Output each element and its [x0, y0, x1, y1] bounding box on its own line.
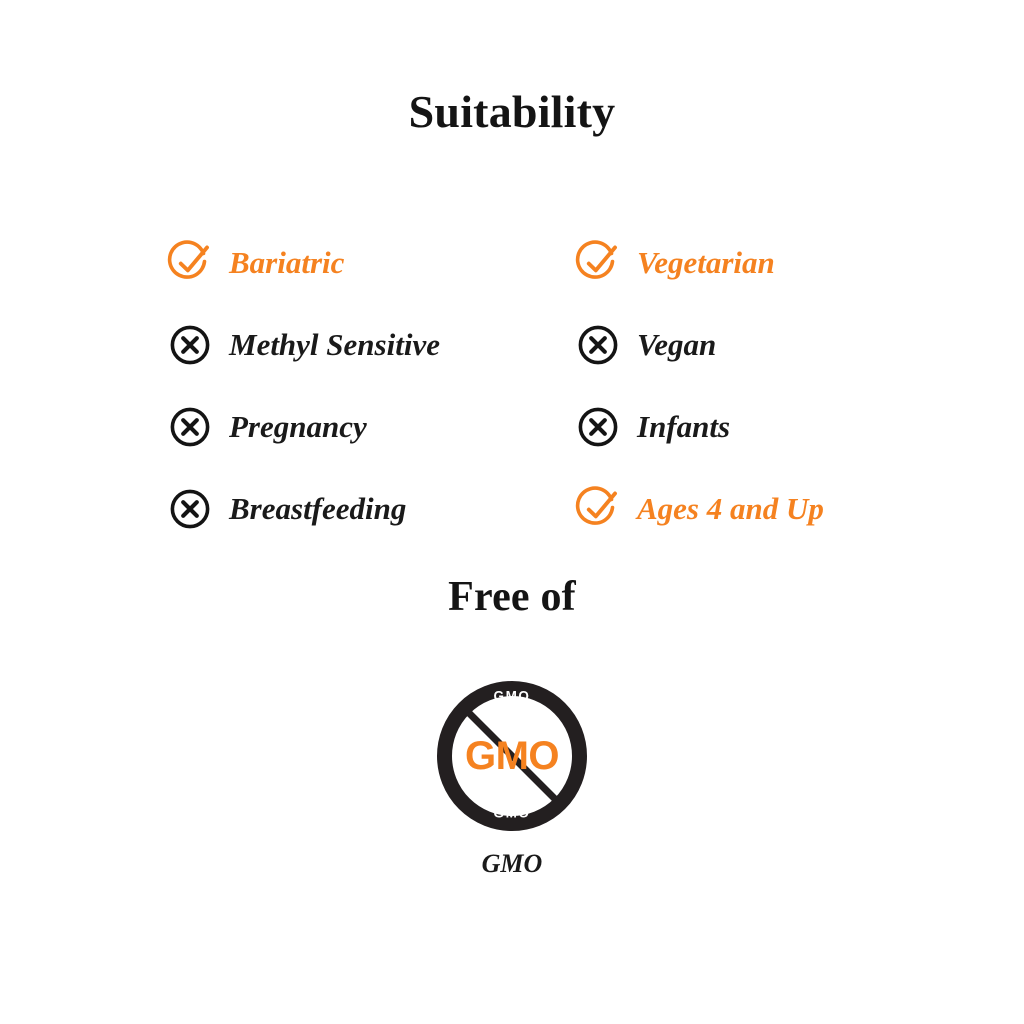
suitability-item-bariatric: Bariatric	[168, 222, 576, 304]
suitability-item-label: Bariatric	[229, 246, 344, 280]
suitability-item-label: Vegan	[637, 328, 716, 362]
x-circle-icon	[168, 323, 212, 367]
suitability-item-label: Breastfeeding	[229, 492, 406, 526]
free-of-badge-caption: GMO	[482, 849, 543, 879]
suitability-item-breastfeeding: Breastfeeding	[168, 468, 576, 550]
suitability-item-label: Pregnancy	[229, 410, 367, 444]
no-gmo-badge-icon: GMO GMO GMO	[437, 677, 587, 835]
free-of-badge-list: GMO GMO GMO GMO	[0, 677, 1024, 879]
x-circle-icon	[576, 405, 620, 449]
suitability-item-ages-4-and-up: Ages 4 and Up	[576, 468, 888, 550]
badge-center-text: GMO	[465, 734, 559, 778]
check-circle-icon	[168, 241, 212, 285]
suitability-item-label: Infants	[637, 410, 730, 444]
suitability-item-vegan: Vegan	[576, 304, 888, 386]
x-circle-icon	[168, 487, 212, 531]
check-circle-icon	[576, 487, 620, 531]
suitability-item-pregnancy: Pregnancy	[168, 386, 576, 468]
badge-ring-bottom-text: GMO	[493, 806, 530, 821]
suitability-item-label: Ages 4 and Up	[637, 492, 824, 526]
suitability-item-vegetarian: Vegetarian	[576, 222, 888, 304]
x-circle-icon	[168, 405, 212, 449]
free-of-heading: Free of	[0, 571, 1024, 623]
suitability-item-label: Vegetarian	[637, 246, 775, 280]
suitability-item-methyl-sensitive: Methyl Sensitive	[168, 304, 576, 386]
suitability-heading: Suitability	[0, 84, 1024, 140]
free-of-badge-item: GMO GMO GMO GMO	[437, 677, 587, 879]
suitability-panel: Suitability Bariatric Vegetarian	[0, 0, 1024, 1024]
suitability-item-infants: Infants	[576, 386, 888, 468]
badge-ring-top-text: GMO	[493, 689, 530, 704]
suitability-list: Bariatric Vegetarian Methyl Sensitive	[168, 222, 888, 550]
x-circle-icon	[576, 323, 620, 367]
check-circle-icon	[576, 241, 620, 285]
suitability-item-label: Methyl Sensitive	[229, 328, 440, 362]
